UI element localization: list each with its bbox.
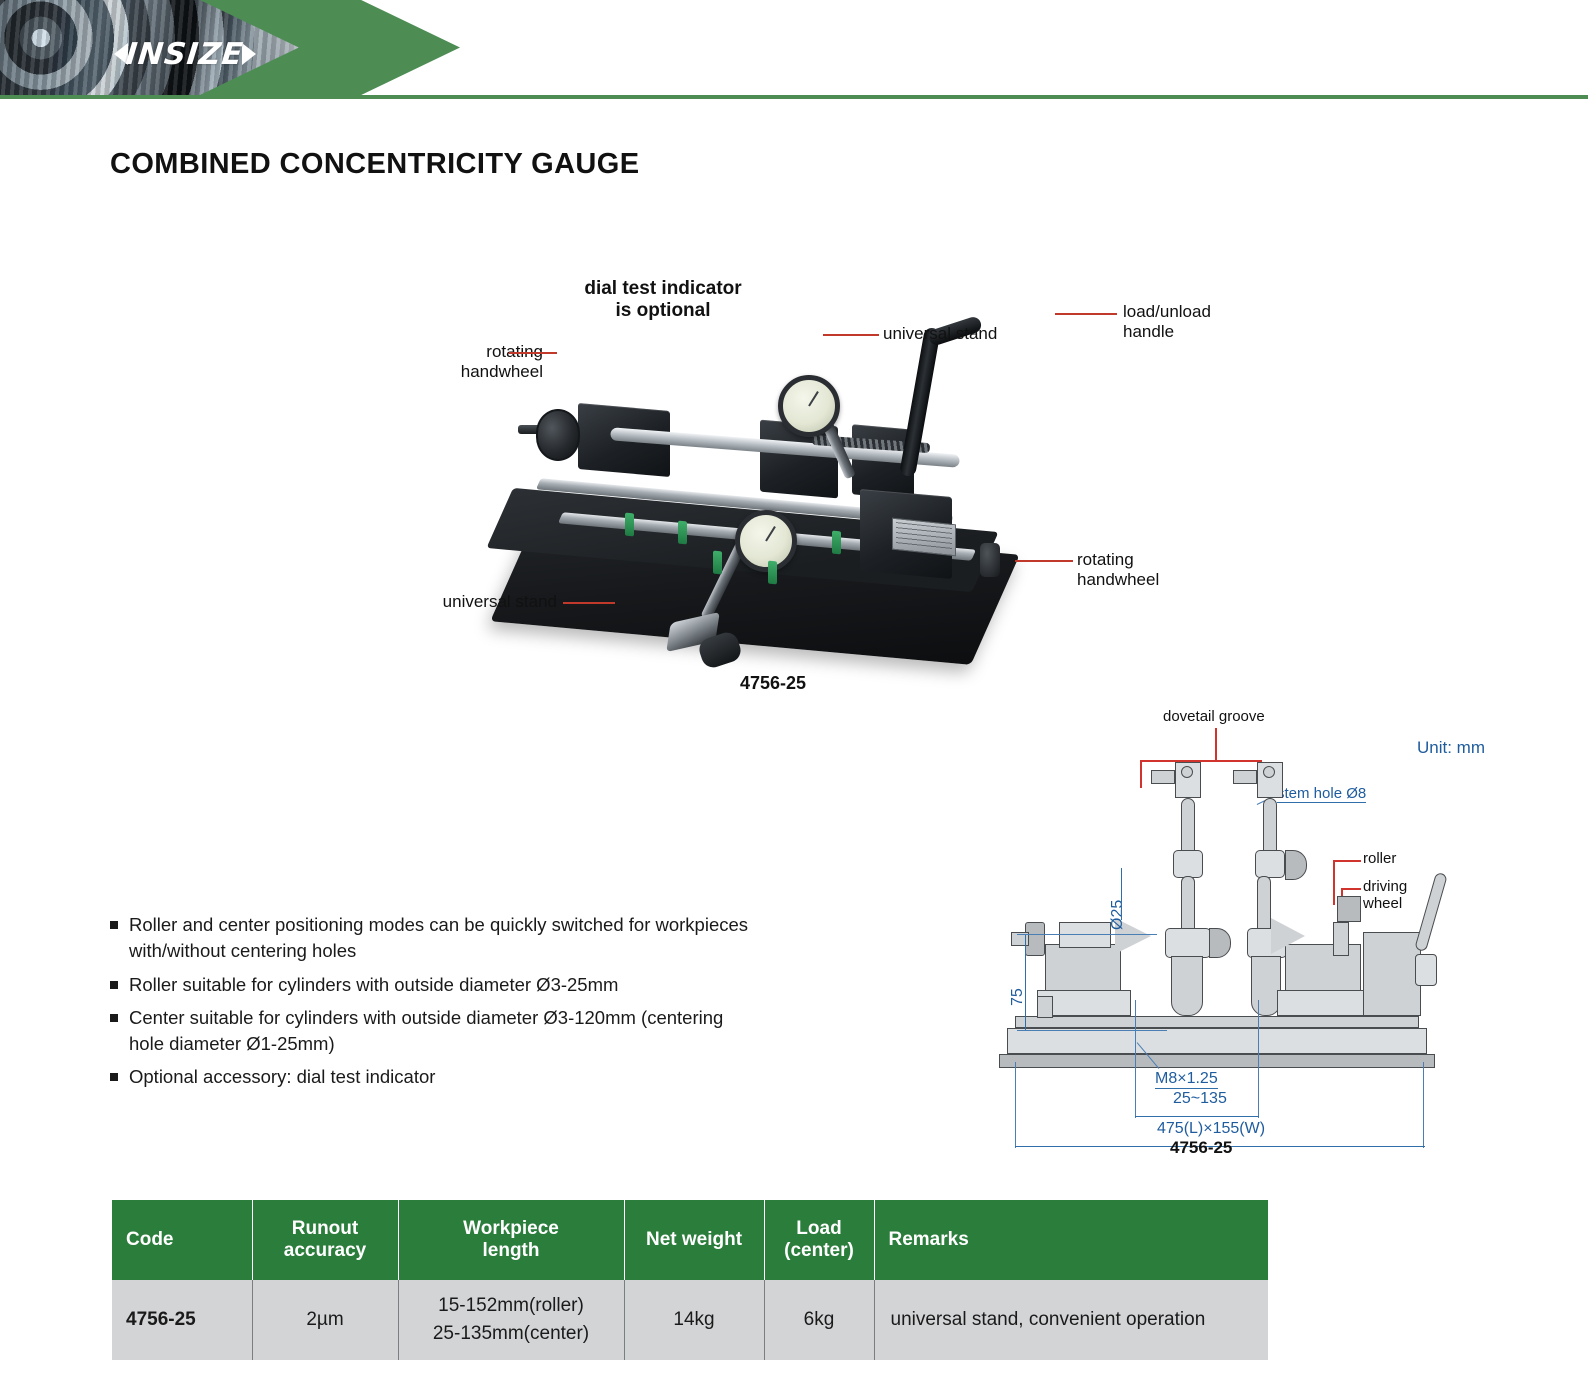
product-photo-caption: 4756-25 xyxy=(740,673,806,694)
feature-text: Roller and center positioning modes can … xyxy=(129,912,750,965)
list-item: Roller suitable for cylinders with outsi… xyxy=(110,972,750,998)
insize-logo: INSIZE xyxy=(100,33,270,75)
list-item: Optional accessory: dial test indicator xyxy=(110,1064,750,1090)
table-header-row: Code Runout accuracy Workpiece length Ne… xyxy=(112,1200,1268,1280)
leader-roller-v xyxy=(1333,860,1335,905)
column-header-runout-accuracy: Runout accuracy xyxy=(252,1200,398,1280)
drawing-caption: 4756-25 xyxy=(1170,1138,1232,1158)
cad-stand1-stem-hole xyxy=(1181,766,1193,778)
column-header-workpiece-length: Workpiece length xyxy=(398,1200,624,1280)
column-header-remarks: Remarks xyxy=(874,1200,1268,1280)
leader-line-universal-stand-bottom xyxy=(563,602,615,604)
cell-code: 4756-25 xyxy=(112,1280,252,1360)
dim-height-75-upper-ext xyxy=(1017,934,1157,935)
cad-drive-knob xyxy=(1415,954,1437,986)
cell-load-center: 6kg xyxy=(764,1280,874,1360)
drawing-unit-note: Unit: mm xyxy=(1417,738,1485,758)
leader-dovetail-stem xyxy=(1215,728,1217,760)
dim-diameter-25-line xyxy=(1121,868,1122,920)
cad-stand2-screw xyxy=(1233,770,1257,784)
machine-rotating-handwheel-right xyxy=(980,543,1000,577)
column-header-net-weight: Net weight xyxy=(624,1200,764,1280)
list-item: Roller and center positioning modes can … xyxy=(110,912,750,965)
machine-green-marker xyxy=(625,513,634,537)
cad-base-foot xyxy=(999,1054,1435,1068)
dim-range-25-135: 25~135 xyxy=(1173,1090,1227,1108)
product-photo-image xyxy=(460,335,1020,665)
feature-text: Center suitable for cylinders with outsi… xyxy=(129,1005,750,1058)
square-bullet-icon xyxy=(110,1073,118,1081)
dim-footprint-ext-left xyxy=(1015,1062,1016,1148)
feature-text: Roller suitable for cylinders with outsi… xyxy=(129,972,618,998)
feature-list: Roller and center positioning modes can … xyxy=(110,912,750,1098)
leader-line-load-unload-handle xyxy=(1055,313,1117,315)
cell-remarks: universal stand, convenient operation xyxy=(874,1280,1268,1360)
cad-stand2-joint xyxy=(1255,850,1285,878)
cell-runout-accuracy: 2µm xyxy=(252,1280,398,1360)
leader-driving-wheel-h xyxy=(1341,888,1361,890)
cad-stand1-screw xyxy=(1151,770,1175,784)
cad-stand2-lower-arm xyxy=(1257,876,1271,934)
cad-base-slab xyxy=(1007,1028,1427,1054)
machine-green-marker xyxy=(678,521,687,545)
machine-green-marker xyxy=(713,551,722,575)
dial-test-indicator-bottom xyxy=(735,510,797,572)
dial-test-indicator-top xyxy=(778,375,840,437)
dim-footprint-ext-right xyxy=(1423,1062,1424,1148)
column-header-load-center: Load (center) xyxy=(764,1200,874,1280)
page-header: INSIZE xyxy=(0,0,1588,103)
label-roller: roller xyxy=(1363,850,1396,867)
column-header-code: Code xyxy=(112,1200,252,1280)
square-bullet-icon xyxy=(110,1014,118,1022)
cad-stand2-lever xyxy=(1285,850,1307,880)
leader-roller-h xyxy=(1333,860,1361,862)
callout-universal-stand-top: universal stand xyxy=(883,324,997,344)
callout-load-unload-handle: load/unload handle xyxy=(1123,302,1243,341)
table-row: 4756-25 2µm 15-152mm(roller) 25-135mm(ce… xyxy=(112,1280,1268,1360)
label-driving-wheel: driving wheel xyxy=(1363,878,1433,913)
callout-dial-test-indicator: dial test indicator is optional xyxy=(563,278,763,322)
leader-dovetail-left xyxy=(1140,760,1142,788)
dim-height-75-line xyxy=(1025,934,1026,1030)
callout-rotating-handwheel-left: rotating handwheel xyxy=(433,342,543,381)
machine-green-marker xyxy=(832,531,841,555)
feature-text: Optional accessory: dial test indicator xyxy=(129,1064,435,1090)
cad-stand1-lever xyxy=(1209,928,1231,958)
list-item: Center suitable for cylinders with outsi… xyxy=(110,1005,750,1058)
cad-table-rail xyxy=(1015,1016,1419,1028)
dim-footprint: 475(L)×155(W) xyxy=(1157,1120,1265,1138)
cad-stand1-joint xyxy=(1173,850,1203,878)
dim-thread-m8: M8×1.25 xyxy=(1155,1070,1218,1089)
cell-net-weight: 14kg xyxy=(624,1280,764,1360)
cad-roller xyxy=(1333,922,1349,956)
label-stem-hole: stem hole Ø8 xyxy=(1277,785,1366,803)
page-title: COMBINED CONCENTRICITY GAUGE xyxy=(110,148,639,181)
dim-range-ext-left xyxy=(1135,1000,1136,1118)
cell-workpiece-length: 15-152mm(roller) 25-135mm(center) xyxy=(398,1280,624,1360)
callout-universal-stand-bottom: universal stand xyxy=(427,592,557,612)
dim-range-ext-right xyxy=(1258,1000,1259,1118)
specifications-table: Code Runout accuracy Workpiece length Ne… xyxy=(112,1200,1268,1360)
cad-right-holder-base xyxy=(1277,990,1371,1016)
label-dovetail-groove: dovetail groove xyxy=(1163,708,1265,725)
cad-left-clamp xyxy=(1037,996,1053,1018)
machine-green-marker xyxy=(768,561,777,585)
cad-drive-housing xyxy=(1363,932,1421,1016)
technical-drawing: Unit: mm dovetail groove stem hole Ø8 ro… xyxy=(985,700,1485,1180)
header-divider-rule xyxy=(0,95,1588,99)
product-photo-block: dial test indicator is optional rotating… xyxy=(415,240,1215,710)
logo-wordmark: INSIZE xyxy=(125,37,246,72)
cad-stand1-clamp-block xyxy=(1165,928,1211,958)
leader-line-rotating-handwheel-left xyxy=(509,352,557,354)
machine-rotating-handwheel-left xyxy=(536,409,580,461)
cad-stand2-stem-hole xyxy=(1263,766,1275,778)
dim-diameter-25: Ø25 xyxy=(1109,900,1127,930)
square-bullet-icon xyxy=(110,921,118,929)
cad-stand1-foot xyxy=(1171,956,1203,1016)
cad-driving-wheel xyxy=(1337,896,1361,922)
callout-rotating-handwheel-right: rotating handwheel xyxy=(1077,550,1197,589)
leader-line-universal-stand-top xyxy=(823,334,879,336)
dim-height-75-lower-ext xyxy=(1017,1030,1167,1031)
square-bullet-icon xyxy=(110,981,118,989)
cad-stand1-lower-arm xyxy=(1181,876,1195,934)
machine-name-plate xyxy=(892,518,956,557)
leader-line-rotating-handwheel-right xyxy=(1015,560,1073,562)
dim-range-line xyxy=(1135,1116,1259,1117)
